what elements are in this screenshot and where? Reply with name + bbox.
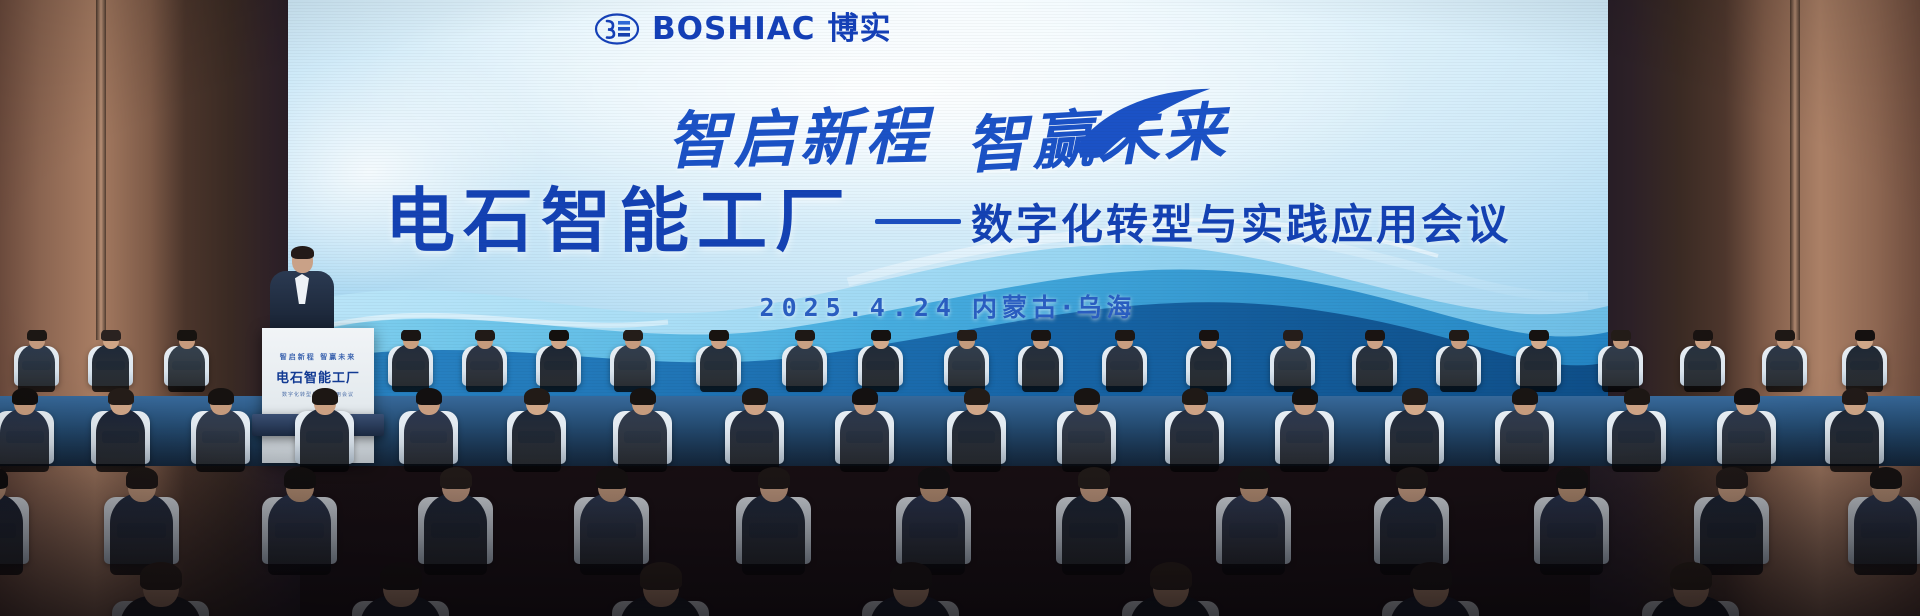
- audience-hair: [1078, 467, 1111, 489]
- audience-hair: [140, 562, 182, 590]
- audience-person: [862, 344, 899, 392]
- hall-pillar-left: [96, 0, 106, 340]
- audience-person: [1846, 344, 1883, 392]
- audience-hair: [709, 330, 728, 341]
- audience-person: [168, 344, 205, 392]
- audience-area: [0, 330, 1920, 616]
- audience-person: [1602, 344, 1639, 392]
- audience-person: [268, 493, 331, 575]
- audience-hair: [1611, 330, 1630, 341]
- audience-hair: [640, 562, 682, 590]
- speaker-hair: [291, 246, 314, 259]
- audience-hair: [1292, 388, 1317, 405]
- audience-row: [0, 566, 1920, 616]
- audience-person: [300, 408, 349, 472]
- audience-person: [1440, 344, 1477, 392]
- conference-title-row: 电石智能工厂 数字化转型与实践应用会议: [288, 186, 1608, 256]
- audience-person: [1684, 344, 1721, 392]
- audience-hair: [964, 388, 989, 405]
- audience-hair: [1512, 388, 1537, 405]
- audience-hair: [1402, 388, 1427, 405]
- audience-person: [1500, 408, 1549, 472]
- audience-hair: [126, 467, 159, 489]
- audience-hair: [108, 388, 133, 405]
- audience-hair: [1870, 467, 1903, 489]
- audience-person: [540, 344, 577, 392]
- audience-person: [466, 344, 503, 392]
- audience-hair: [1716, 467, 1749, 489]
- audience-hair: [623, 330, 642, 341]
- audience-hair: [1031, 330, 1050, 341]
- audience-hair: [890, 562, 932, 590]
- audience-hair: [440, 467, 473, 489]
- audience-hair: [380, 562, 422, 590]
- audience-hair: [524, 388, 549, 405]
- audience-person: [1106, 344, 1143, 392]
- audience-hair: [1238, 467, 1271, 489]
- audience-hair: [1842, 388, 1867, 405]
- audience-person: [1022, 344, 1059, 392]
- audience-hair: [1624, 388, 1649, 405]
- audience-person: [1830, 408, 1879, 472]
- audience-hair: [795, 330, 814, 341]
- audience-person: [404, 408, 453, 472]
- audience-person: [1356, 344, 1393, 392]
- audience-hair: [12, 388, 37, 405]
- audience-person: [1722, 408, 1771, 472]
- audience-person: [730, 408, 779, 472]
- audience-hair: [284, 467, 317, 489]
- conference-place: 内蒙古·乌海: [972, 293, 1137, 322]
- audience-hair: [1410, 562, 1452, 590]
- audience-person: [92, 344, 129, 392]
- audience-person: [1170, 408, 1219, 472]
- audience-hair: [1529, 330, 1548, 341]
- audience-hair: [1734, 388, 1759, 405]
- audience-person: [1062, 493, 1125, 575]
- logo-latin-text: BOSHIAC: [652, 14, 816, 45]
- conference-title-main: 电石智能工厂: [385, 186, 853, 256]
- audience-hair: [1283, 330, 1302, 341]
- audience-person: [786, 344, 823, 392]
- audience-hair: [596, 467, 629, 489]
- audience-person: [96, 408, 145, 472]
- audience-hair: [549, 330, 568, 341]
- audience-person: [618, 408, 667, 472]
- audience-person: [392, 344, 429, 392]
- audience-hair: [177, 330, 196, 341]
- audience-hair: [0, 467, 8, 489]
- audience-person: [614, 344, 651, 392]
- audience-person: [424, 493, 487, 575]
- audience-hair: [1074, 388, 1099, 405]
- audience-hair: [918, 467, 951, 489]
- audience-hair: [312, 388, 337, 405]
- audience-hair: [1449, 330, 1468, 341]
- slogan-right: 智赢未来: [963, 81, 1232, 186]
- audience-hair: [630, 388, 655, 405]
- audience-person: [1280, 408, 1329, 472]
- audience-hair: [101, 330, 120, 341]
- audience-person: [1190, 344, 1227, 392]
- audience-person: [700, 344, 737, 392]
- audience-person: [1520, 344, 1557, 392]
- audience-person: [1274, 344, 1311, 392]
- audience-person: [196, 408, 245, 472]
- audience-hair: [742, 388, 767, 405]
- audience-hair: [1396, 467, 1429, 489]
- audience-person: [512, 408, 561, 472]
- audience-hair: [416, 388, 441, 405]
- audience-hair: [1775, 330, 1794, 341]
- hall-pillar-right: [1790, 0, 1800, 340]
- audience-person: [1390, 408, 1439, 472]
- conference-date: 2025.4.24: [760, 293, 958, 322]
- logo-chinese-text: 博实: [828, 14, 892, 45]
- audience-hair: [1199, 330, 1218, 341]
- audience-hair: [1150, 562, 1192, 590]
- audience-hair: [1365, 330, 1384, 341]
- audience-person: [580, 493, 643, 575]
- audience-hair: [1855, 330, 1874, 341]
- audience-hair: [852, 388, 877, 405]
- audience-hair: [401, 330, 420, 341]
- audience-hair: [1556, 467, 1589, 489]
- audience-person: [1612, 408, 1661, 472]
- audience-hair: [27, 330, 46, 341]
- conference-photo: BOSHIAC 博实 智启新程智赢未来 电石智能工厂 数字化转型与实践应用会议 …: [0, 0, 1920, 616]
- audience-hair: [1670, 562, 1712, 590]
- audience-hair: [1693, 330, 1712, 341]
- audience-person: [1540, 493, 1603, 575]
- audience-person: [18, 344, 55, 392]
- title-dash: [875, 219, 961, 224]
- audience-person: [0, 408, 49, 472]
- audience-person: [742, 493, 805, 575]
- company-logo: BOSHIAC 博实: [594, 8, 892, 50]
- audience-person: [840, 408, 889, 472]
- audience-person: [1854, 493, 1917, 575]
- conference-title-sub: 数字化转型与实践应用会议: [971, 191, 1511, 252]
- audience-person: [1766, 344, 1803, 392]
- audience-hair: [758, 467, 791, 489]
- conference-date-place: 2025.4.24内蒙古·乌海: [288, 288, 1608, 324]
- audience-person: [1222, 493, 1285, 575]
- boshiac-emblem-icon: [594, 12, 640, 46]
- slogan-left: 智启新程: [666, 85, 932, 181]
- audience-hair: [1182, 388, 1207, 405]
- audience-hair: [871, 330, 890, 341]
- audience-hair: [957, 330, 976, 341]
- audience-hair: [475, 330, 494, 341]
- audience-person: [952, 408, 1001, 472]
- audience-person: [948, 344, 985, 392]
- audience-hair: [1115, 330, 1134, 341]
- audience-hair: [208, 388, 233, 405]
- audience-person: [1062, 408, 1111, 472]
- audience-person: [1700, 493, 1763, 575]
- slogan-calligraphy: 智启新程智赢未来: [288, 88, 1608, 178]
